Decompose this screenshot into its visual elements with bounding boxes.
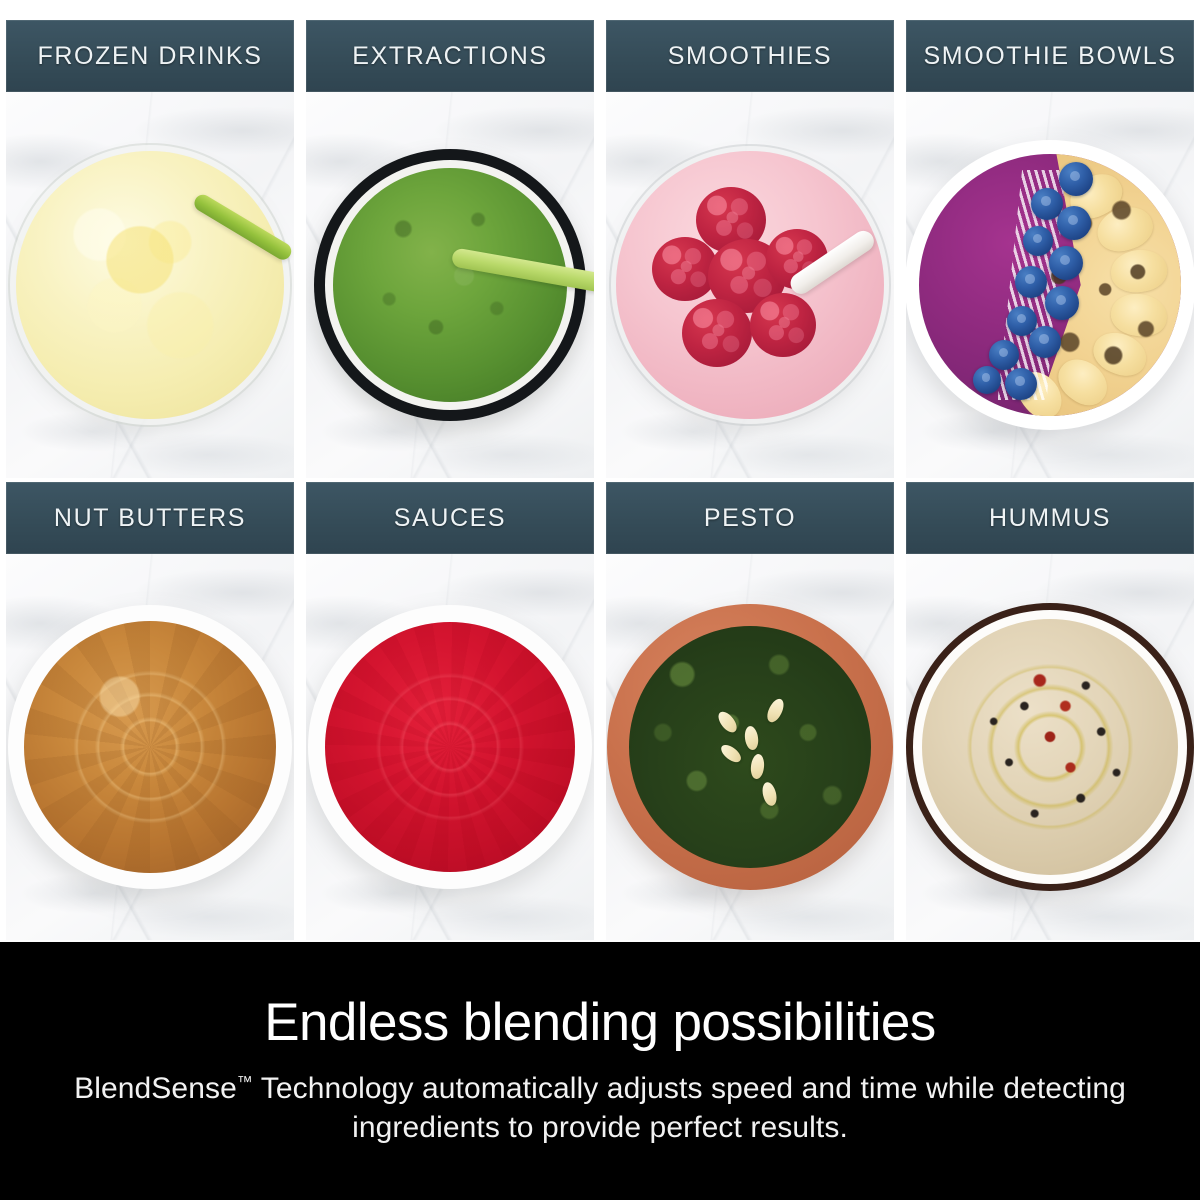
blueberry — [973, 366, 1001, 394]
tile-label-smoothies: SMOOTHIES — [668, 42, 832, 71]
tile-header-smoothie-bowls: SMOOTHIE BOWLS — [906, 20, 1194, 92]
tile-header-pesto: PESTO — [606, 482, 894, 554]
tile-photo-pesto — [606, 554, 894, 940]
raspberry — [682, 299, 752, 367]
tile-photo-smoothies — [606, 92, 894, 478]
brand-name: BlendSense — [74, 1072, 237, 1105]
banner-body: BlendSense™ Technology automatically adj… — [56, 1069, 1144, 1147]
tile-photo-hummus — [906, 554, 1194, 940]
use-case-tile-hummus[interactable]: HUMMUS — [900, 482, 1200, 942]
tile-header-smoothies: SMOOTHIES — [606, 20, 894, 92]
tile-photo-smoothie-bowls — [906, 92, 1194, 478]
use-case-tile-sauces[interactable]: SAUCES — [300, 482, 600, 942]
paprika-and-pepper-garnish — [922, 619, 1178, 875]
acai-base — [919, 154, 1181, 416]
pine-nut — [715, 709, 740, 736]
blueberry — [989, 340, 1019, 370]
hummus-bowl — [906, 603, 1194, 891]
use-case-tile-frozen-drinks[interactable]: FROZEN DRINKS — [0, 20, 300, 480]
blueberry — [1049, 246, 1083, 280]
product-feature-image: FROZEN DRINKS EXTRACTIONS — [0, 0, 1200, 1200]
tile-photo-sauces — [306, 554, 594, 940]
tile-header-hummus: HUMMUS — [906, 482, 1194, 554]
trademark-symbol: ™ — [237, 1074, 253, 1091]
use-case-tile-nut-butters[interactable]: NUT BUTTERS — [0, 482, 300, 942]
nut-butter-bowl — [8, 605, 292, 889]
tile-label-pesto: PESTO — [704, 504, 796, 533]
frozen-drink-glass — [16, 151, 284, 419]
red-sauce-swirl — [325, 622, 575, 872]
use-case-tile-extractions[interactable]: EXTRACTIONS — [300, 20, 600, 480]
extraction-glass — [314, 149, 586, 421]
blueberry — [1005, 368, 1037, 400]
tile-label-hummus: HUMMUS — [989, 504, 1111, 533]
blueberry — [1029, 326, 1061, 358]
pesto-bowl — [607, 604, 893, 890]
tile-photo-extractions — [306, 92, 594, 478]
smoothie-glass — [616, 151, 884, 419]
tile-label-smoothie-bowls: SMOOTHIE BOWLS — [924, 42, 1177, 71]
blueberry — [1023, 226, 1053, 256]
tile-label-frozen-drinks: FROZEN DRINKS — [38, 42, 263, 71]
pine-nut — [750, 753, 766, 779]
marketing-banner: Endless blending possibilities BlendSens… — [0, 942, 1200, 1200]
blueberry — [1059, 162, 1093, 196]
use-case-tile-smoothie-bowls[interactable]: SMOOTHIE BOWLS — [900, 20, 1200, 480]
nut-butter-swirl — [24, 621, 276, 873]
frozen-slush-texture — [24, 159, 276, 411]
banner-body-line-1-suffix: Technology automatically adjusts speed a… — [253, 1072, 852, 1105]
tile-header-sauces: SAUCES — [306, 482, 594, 554]
use-case-tile-pesto[interactable]: PESTO — [600, 482, 900, 942]
blueberry — [1015, 266, 1047, 298]
smoothie-bowl — [906, 140, 1194, 430]
tile-label-sauces: SAUCES — [394, 504, 506, 533]
pine-nut — [764, 696, 787, 724]
raspberry — [750, 293, 816, 357]
tile-header-extractions: EXTRACTIONS — [306, 20, 594, 92]
pine-nut — [760, 781, 778, 807]
tile-photo-frozen-drinks — [6, 92, 294, 478]
banner-headline: Endless blending possibilities — [264, 995, 935, 1051]
blueberry — [1045, 286, 1079, 320]
tile-label-nut-butters: NUT BUTTERS — [54, 504, 246, 533]
tile-header-nut-butters: NUT BUTTERS — [6, 482, 294, 554]
blueberry — [1057, 206, 1091, 240]
tile-header-frozen-drinks: FROZEN DRINKS — [6, 20, 294, 92]
tile-photo-nut-butters — [6, 554, 294, 940]
pine-nut — [718, 742, 744, 766]
tile-label-extractions: EXTRACTIONS — [352, 42, 547, 71]
use-case-grid: FROZEN DRINKS EXTRACTIONS — [0, 20, 1200, 942]
sauce-bowl — [308, 605, 592, 889]
pesto-surface — [629, 626, 871, 868]
green-juice-surface — [333, 168, 567, 402]
use-case-tile-smoothies[interactable]: SMOOTHIES — [600, 20, 900, 480]
pine-nut — [743, 725, 759, 751]
